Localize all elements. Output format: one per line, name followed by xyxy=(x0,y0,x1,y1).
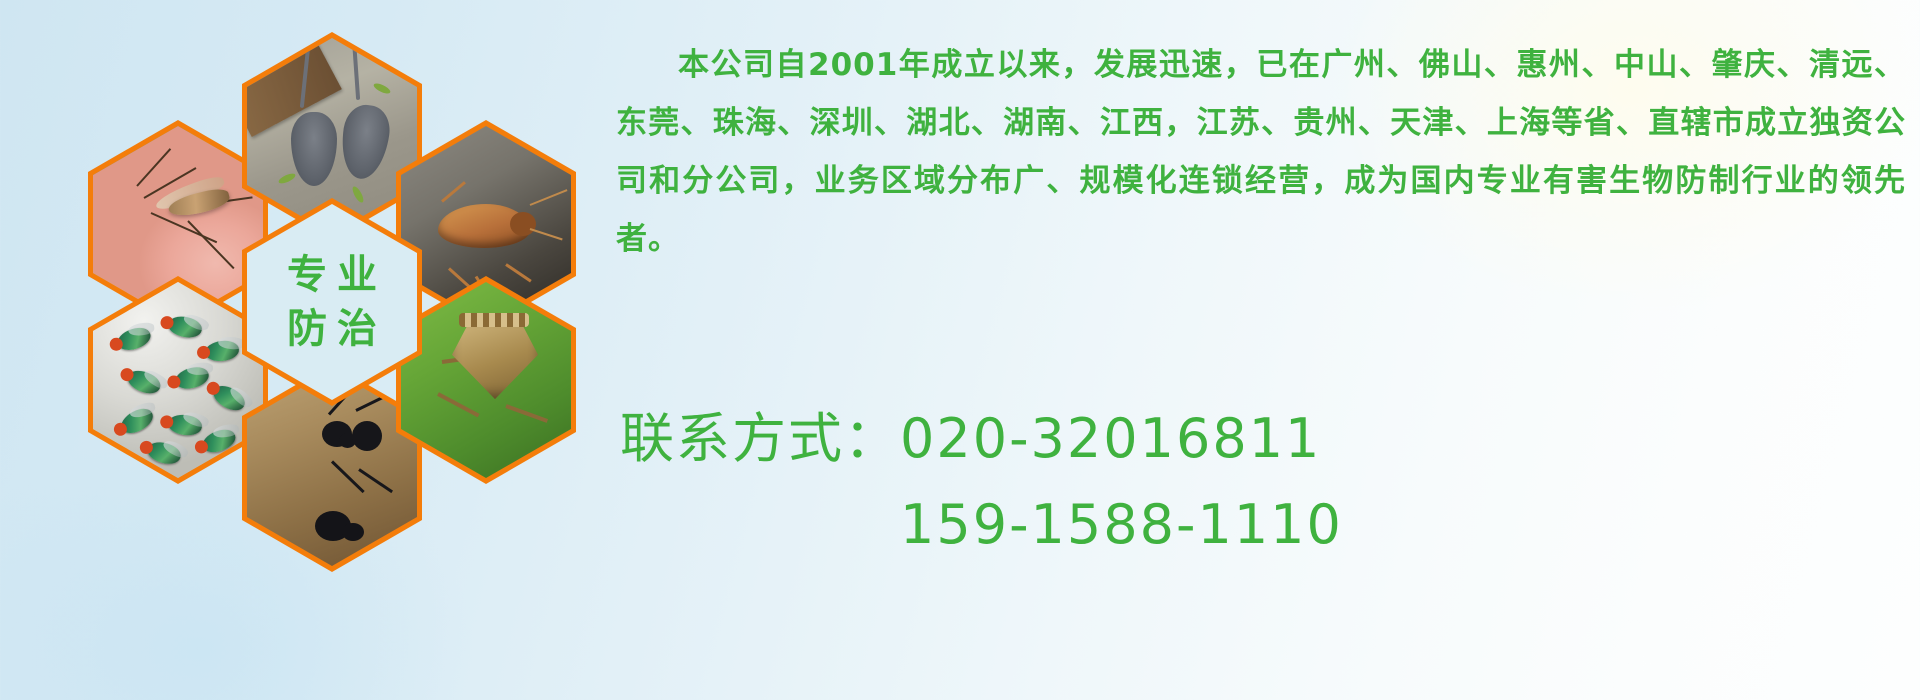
banner-content: 本公司自2001年成立以来，发展迅速，已在广州、佛山、惠州、中山、肇庆、清远、东… xyxy=(600,0,1920,700)
hex-photo-flies[interactable] xyxy=(88,276,268,484)
stink-bug-icon xyxy=(401,282,571,478)
contact-primary[interactable]: 联系方式：020-32016811 xyxy=(620,396,1910,482)
hex-slogan: 专业 防治 xyxy=(242,198,422,406)
slogan-line-2: 防治 xyxy=(277,309,387,349)
company-description: 本公司自2001年成立以来，发展迅速，已在广州、佛山、惠州、中山、肇庆、清远、东… xyxy=(616,36,1906,268)
hex-photo-stink-bug[interactable] xyxy=(396,276,576,484)
hexagon-photo-cluster: 专业 防治 xyxy=(88,10,588,570)
slogan-line-1: 专业 xyxy=(277,255,387,295)
contact-secondary[interactable]: 159-1588-1110 xyxy=(620,482,1910,568)
fly-icon xyxy=(93,282,263,478)
contact-block: 联系方式：020-32016811 159-1588-1110 xyxy=(620,396,1910,568)
